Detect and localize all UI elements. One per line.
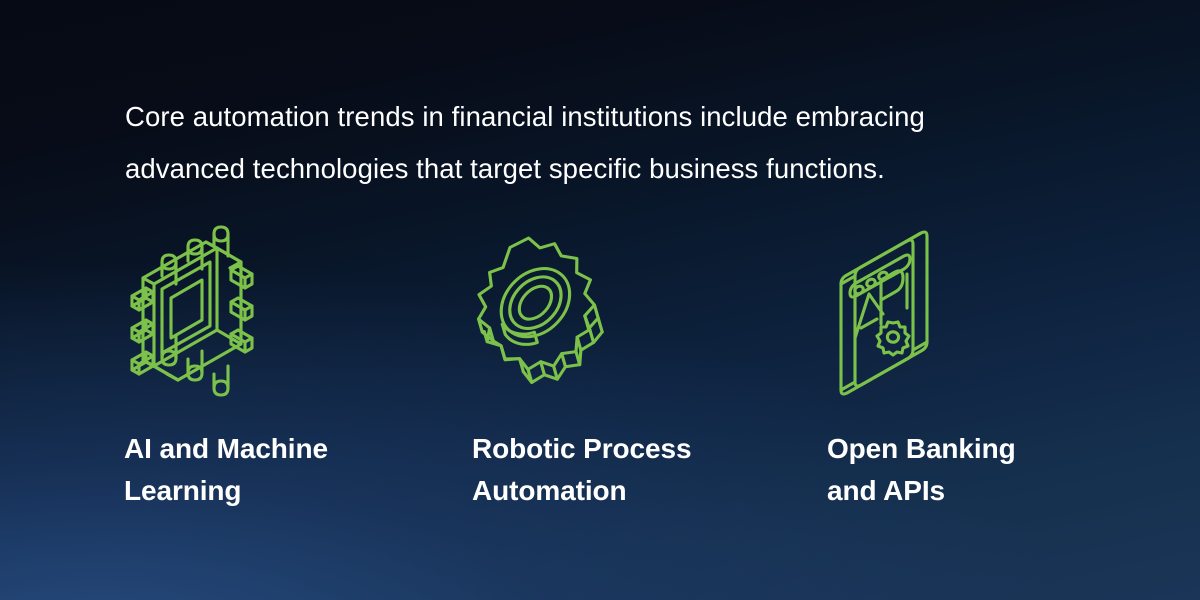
infographic-slide: Core automation trends in financial inst…	[0, 0, 1200, 600]
feature-column-ai-machine-learning: AI and Machine Learning	[122, 0, 432, 600]
microchip-icon	[122, 232, 262, 392]
feature-label-ai-machine-learning: AI and Machine Learning	[124, 428, 424, 512]
feature-column-open-banking-apis: API Open Banking and APIs	[825, 0, 1135, 600]
feature-label-robotic-process-automation: Robotic Process Automation	[472, 428, 772, 512]
feature-column-robotic-process-automation: Robotic Process Automation	[470, 0, 780, 600]
feature-columns: AI and Machine Learning	[0, 0, 1200, 600]
api-window-icon: API	[825, 232, 965, 392]
feature-label-open-banking-apis: Open Banking and APIs	[827, 428, 1127, 512]
gear-icon	[470, 232, 610, 392]
